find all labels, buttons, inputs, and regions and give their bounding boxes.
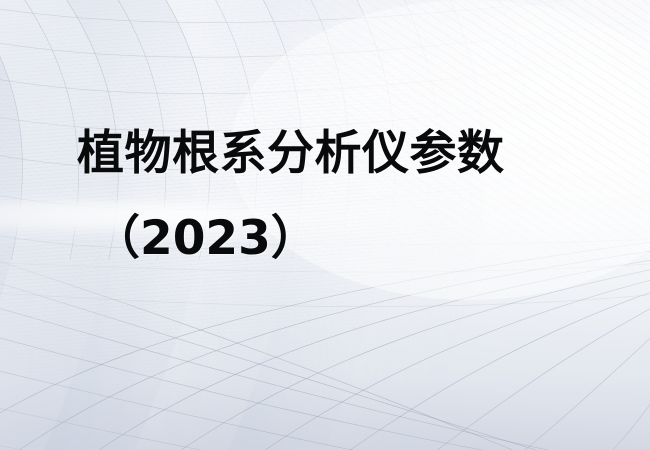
slide-title-block: 植物根系分析仪参数 （2023） [0, 0, 650, 450]
slide-title-line-2: （2023） [93, 211, 318, 267]
title-slide: 植物根系分析仪参数 （2023） [0, 0, 650, 450]
slide-title-line-1: 植物根系分析仪参数 [77, 126, 505, 182]
